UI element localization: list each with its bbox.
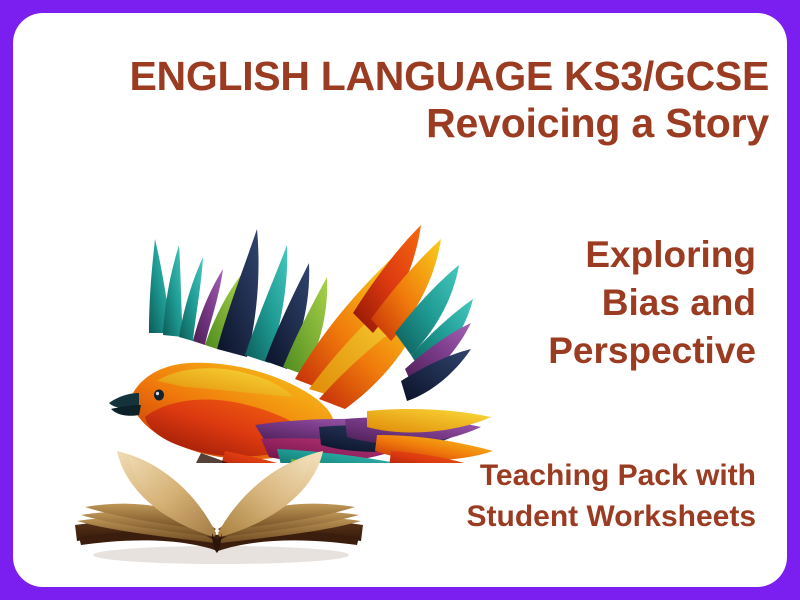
headline: ENGLISH LANGUAGE KS3/GCSE Revoicing a St…: [53, 55, 769, 146]
tagline-line-2: Student Worksheets: [336, 497, 756, 538]
tagline-block: Teaching Pack with Student Worksheets: [336, 456, 756, 538]
poster-root: ENGLISH LANGUAGE KS3/GCSE Revoicing a St…: [0, 0, 800, 600]
subtitle-line-3: Perspective: [336, 327, 756, 375]
subtitle-line-1: Exploring: [336, 231, 756, 279]
headline-line-1: ENGLISH LANGUAGE KS3/GCSE: [53, 55, 769, 98]
subtitle-line-2: Bias and: [336, 279, 756, 327]
poster-card: ENGLISH LANGUAGE KS3/GCSE Revoicing a St…: [13, 13, 787, 587]
open-book-icon: [61, 433, 381, 573]
headline-line-2: Revoicing a Story: [53, 102, 769, 145]
subtitle-block: Exploring Bias and Perspective: [336, 231, 756, 375]
tagline-line-1: Teaching Pack with: [336, 456, 756, 497]
